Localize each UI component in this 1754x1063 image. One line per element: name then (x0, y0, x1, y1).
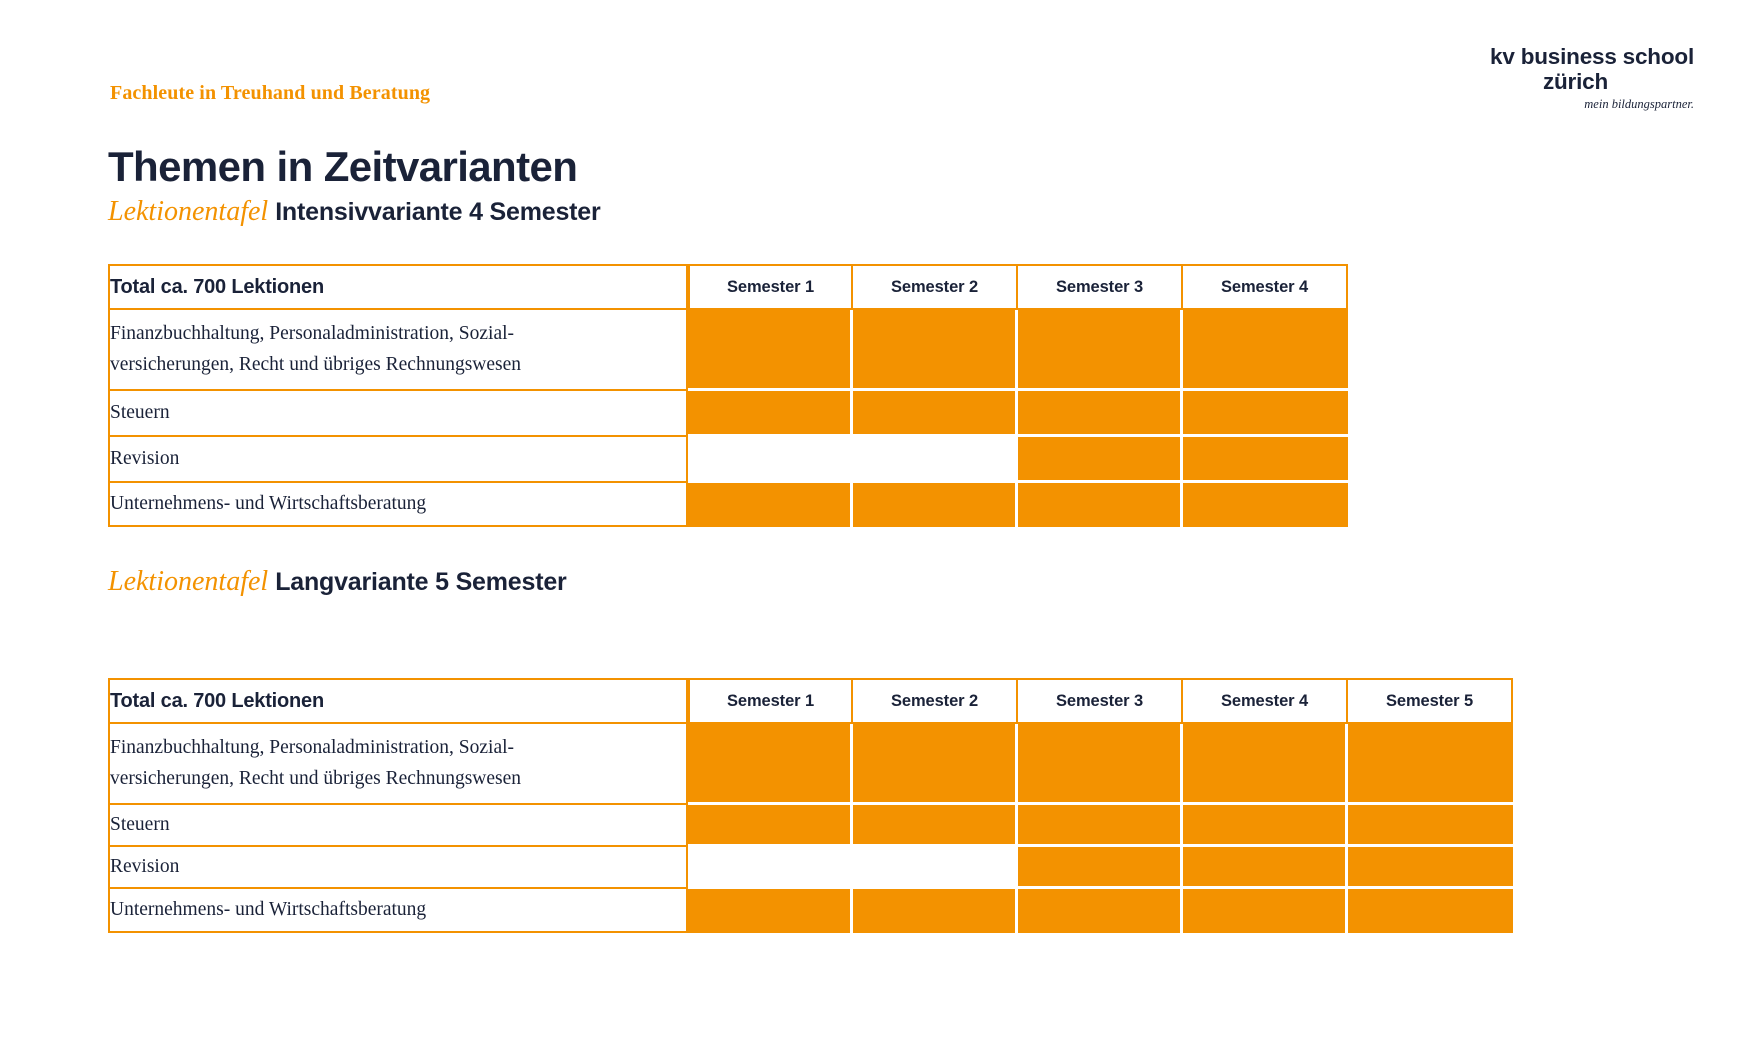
cell-r2-c3 (1183, 847, 1348, 889)
cell-r0-c0 (688, 310, 853, 391)
row-label-revision: Revision (108, 437, 688, 483)
table-row: Revision (108, 847, 1513, 889)
cell-r1-c3 (1183, 391, 1348, 437)
cell-r2-c0 (688, 847, 853, 889)
row-label-line-1: Finanzbuchhaltung, Personaladministratio… (110, 323, 514, 344)
table-header-row: Total ca. 700 Lektionen Semester 1 Semes… (108, 678, 1513, 724)
logo-line-1: kv business school (1434, 46, 1694, 69)
cell-r3-c2 (1018, 483, 1183, 527)
cell-r1-c1 (853, 391, 1018, 437)
cell-r3-c4 (1348, 889, 1513, 933)
cell-r0-c0 (688, 724, 853, 805)
cell-r0-c2 (1018, 310, 1183, 391)
section-heading-italic: Lektionentafel (108, 196, 268, 227)
row-label-line-2: versicherungen, Recht und übriges Rechnu… (110, 768, 521, 789)
section-heading-lang: LektionentafelLangvariante 5 Semester (108, 566, 567, 598)
cell-r2-c1 (853, 847, 1018, 889)
row-label-steuern: Steuern (108, 391, 688, 437)
column-header-semester-3: Semester 3 (1018, 264, 1183, 310)
cell-r2-c4 (1348, 847, 1513, 889)
label-column-header: Total ca. 700 Lektionen (108, 264, 688, 310)
section-heading-bold: Intensivvariante 4 Semester (275, 198, 600, 226)
cell-r3-c3 (1183, 889, 1348, 933)
cell-r0-c3 (1183, 724, 1348, 805)
section-heading-italic: Lektionentafel (108, 566, 268, 597)
cell-r2-c3 (1183, 437, 1348, 483)
cell-r2-c0 (688, 437, 853, 483)
table-row: Unternehmens- und Wirtschaftsberatung (108, 483, 1348, 527)
table-row: Revision (108, 437, 1348, 483)
cell-r0-c1 (853, 310, 1018, 391)
table-row: Steuern (108, 805, 1513, 847)
column-header-semester-2: Semester 2 (853, 678, 1018, 724)
cell-r0-c1 (853, 724, 1018, 805)
brand-logo: kv business school zürich mein bildungsp… (1434, 46, 1694, 112)
cell-r1-c2 (1018, 805, 1183, 847)
row-label-finanzbuchhaltung: Finanzbuchhaltung, Personaladministratio… (108, 310, 688, 391)
column-header-semester-3: Semester 3 (1018, 678, 1183, 724)
row-label-finanzbuchhaltung: Finanzbuchhaltung, Personaladministratio… (108, 724, 688, 805)
cell-r1-c1 (853, 805, 1018, 847)
cell-r1-c4 (1348, 805, 1513, 847)
logo-line-2: zürich (1434, 70, 1694, 94)
cell-r0-c3 (1183, 310, 1348, 391)
cell-r0-c4 (1348, 724, 1513, 805)
column-header-semester-1: Semester 1 (688, 678, 853, 724)
table-row: Unternehmens- und Wirtschaftsberatung (108, 889, 1513, 933)
cell-r3-c3 (1183, 483, 1348, 527)
cell-r3-c1 (853, 483, 1018, 527)
row-label-unternehmensberatung: Unternehmens- und Wirtschaftsberatung (108, 889, 688, 933)
column-header-semester-4: Semester 4 (1183, 678, 1348, 724)
eyebrow-text: Fachleute in Treuhand und Beratung (110, 82, 430, 105)
cell-r1-c3 (1183, 805, 1348, 847)
column-header-semester-1: Semester 1 (688, 264, 853, 310)
row-label-unternehmensberatung: Unternehmens- und Wirtschaftsberatung (108, 483, 688, 527)
table-header-row: Total ca. 700 Lektionen Semester 1 Semes… (108, 264, 1348, 310)
column-header-semester-4: Semester 4 (1183, 264, 1348, 310)
column-header-semester-5: Semester 5 (1348, 678, 1513, 724)
column-header-semester-2: Semester 2 (853, 264, 1018, 310)
section-heading-intensiv: LektionentafelIntensivvariante 4 Semeste… (108, 196, 601, 228)
row-label-steuern: Steuern (108, 805, 688, 847)
logo-tagline: mein bildungspartner. (1434, 97, 1694, 112)
lektionentafel-table-4-semester: Total ca. 700 Lektionen Semester 1 Semes… (108, 264, 1348, 527)
cell-r0-c2 (1018, 724, 1183, 805)
page-title: Themen in Zeitvarianten (108, 146, 577, 188)
section-heading-bold: Langvariante 5 Semester (275, 568, 566, 596)
cell-r2-c2 (1018, 847, 1183, 889)
table-row: Finanzbuchhaltung, Personaladministratio… (108, 724, 1513, 805)
slide-page: kv business school zürich mein bildungsp… (0, 0, 1754, 1063)
cell-r1-c0 (688, 805, 853, 847)
lektionentafel-table-5-semester: Total ca. 700 Lektionen Semester 1 Semes… (108, 678, 1513, 933)
row-label-line-2: versicherungen, Recht und übriges Rechnu… (110, 354, 521, 375)
cell-r2-c1 (853, 437, 1018, 483)
table-row: Finanzbuchhaltung, Personaladministratio… (108, 310, 1348, 391)
cell-r3-c2 (1018, 889, 1183, 933)
cell-r3-c1 (853, 889, 1018, 933)
cell-r1-c2 (1018, 391, 1183, 437)
cell-r2-c2 (1018, 437, 1183, 483)
label-column-header: Total ca. 700 Lektionen (108, 678, 688, 724)
table-row: Steuern (108, 391, 1348, 437)
row-label-line-1: Finanzbuchhaltung, Personaladministratio… (110, 737, 514, 758)
row-label-revision: Revision (108, 847, 688, 889)
cell-r3-c0 (688, 483, 853, 527)
cell-r1-c0 (688, 391, 853, 437)
cell-r3-c0 (688, 889, 853, 933)
